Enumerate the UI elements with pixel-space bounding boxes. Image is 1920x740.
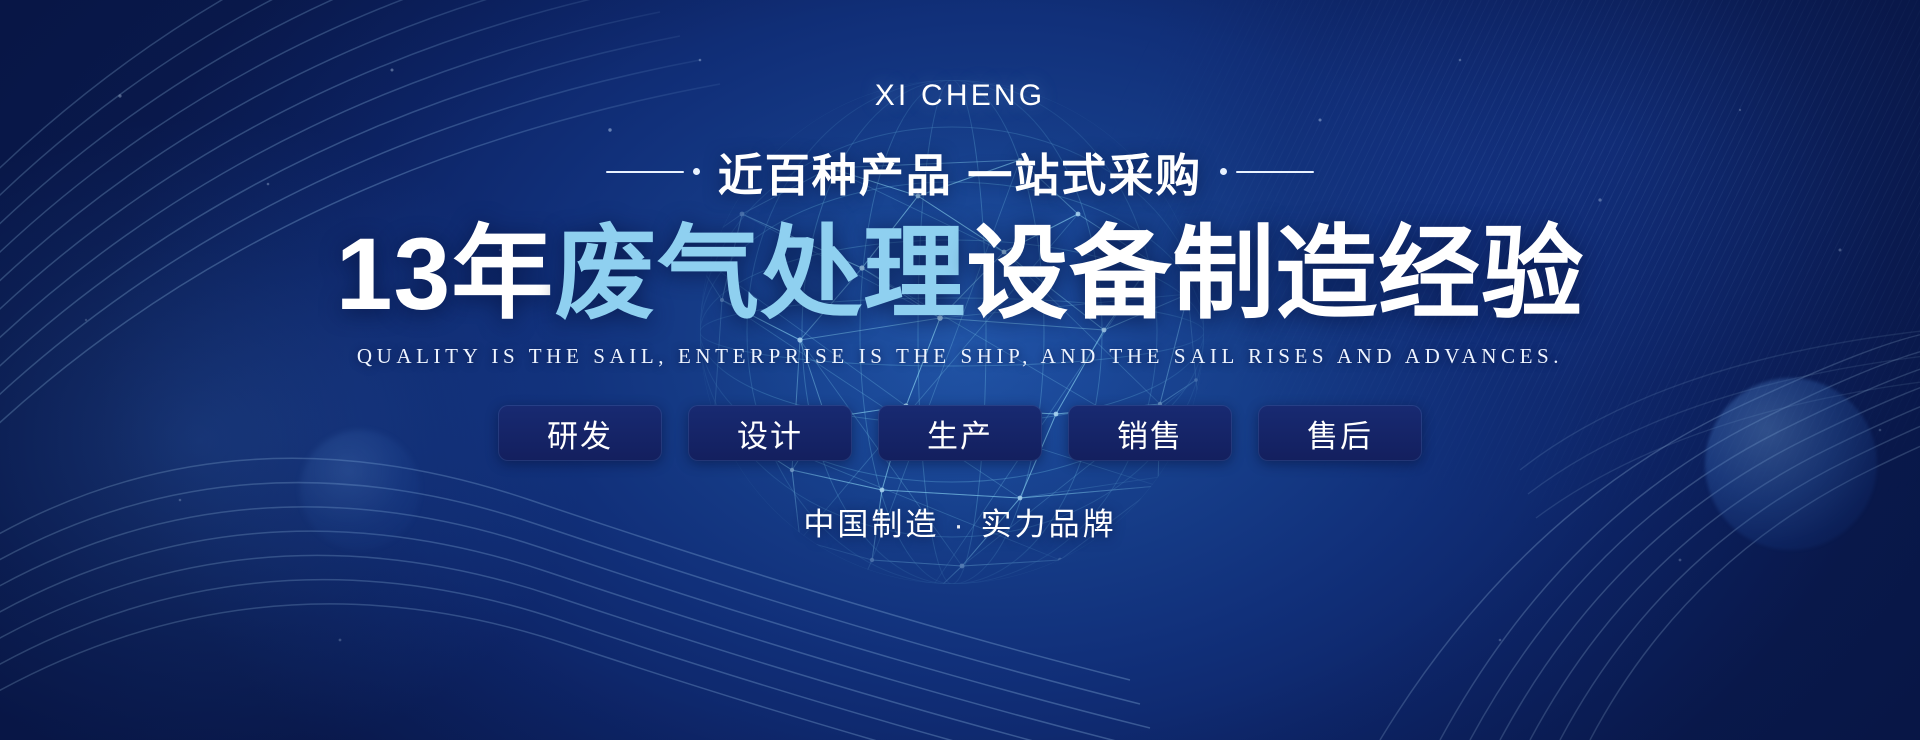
- pill-research-development[interactable]: 研发: [498, 405, 662, 461]
- footer-slogan-right: 实力品牌: [981, 507, 1117, 542]
- hero-banner: XI CHENG 近百种产品 一站式采购 13年废气处理设备制造经验 QUALI…: [0, 0, 1920, 740]
- ornament-left: [606, 168, 700, 175]
- footer-slogan: 中国制造·实力品牌: [803, 499, 1116, 544]
- subtitle-text: 近百种产品 一站式采购: [718, 139, 1203, 204]
- headline-years: 13年: [336, 217, 554, 331]
- ornament-line-right: [1236, 171, 1314, 173]
- footer-separator: ·: [953, 507, 966, 542]
- pill-production[interactable]: 生产: [878, 405, 1042, 461]
- pill-sales[interactable]: 销售: [1068, 405, 1232, 461]
- footer-slogan-left: 中国制造: [803, 507, 939, 542]
- headline-rest: 设备制造经验: [966, 217, 1584, 331]
- subtitle-row: 近百种产品 一站式采购: [606, 139, 1315, 204]
- brand-english-name: XI CHENG: [875, 79, 1046, 113]
- headline: 13年废气处理设备制造经验: [336, 220, 1584, 328]
- ornament-dot-left: [693, 168, 700, 175]
- english-tagline: QUALITY IS THE SAIL, ENTERPRISE IS THE S…: [357, 344, 1563, 369]
- ornament-right: [1220, 168, 1314, 175]
- pill-design[interactable]: 设计: [688, 405, 852, 461]
- banner-content: XI CHENG 近百种产品 一站式采购 13年废气处理设备制造经验 QUALI…: [0, 0, 1920, 740]
- ornament-line-left: [606, 171, 684, 173]
- headline-highlight: 废气处理: [554, 217, 966, 331]
- service-pill-row: 研发 设计 生产 销售 售后: [498, 405, 1422, 461]
- pill-after-sales[interactable]: 售后: [1258, 405, 1422, 461]
- ornament-dot-right: [1220, 168, 1227, 175]
